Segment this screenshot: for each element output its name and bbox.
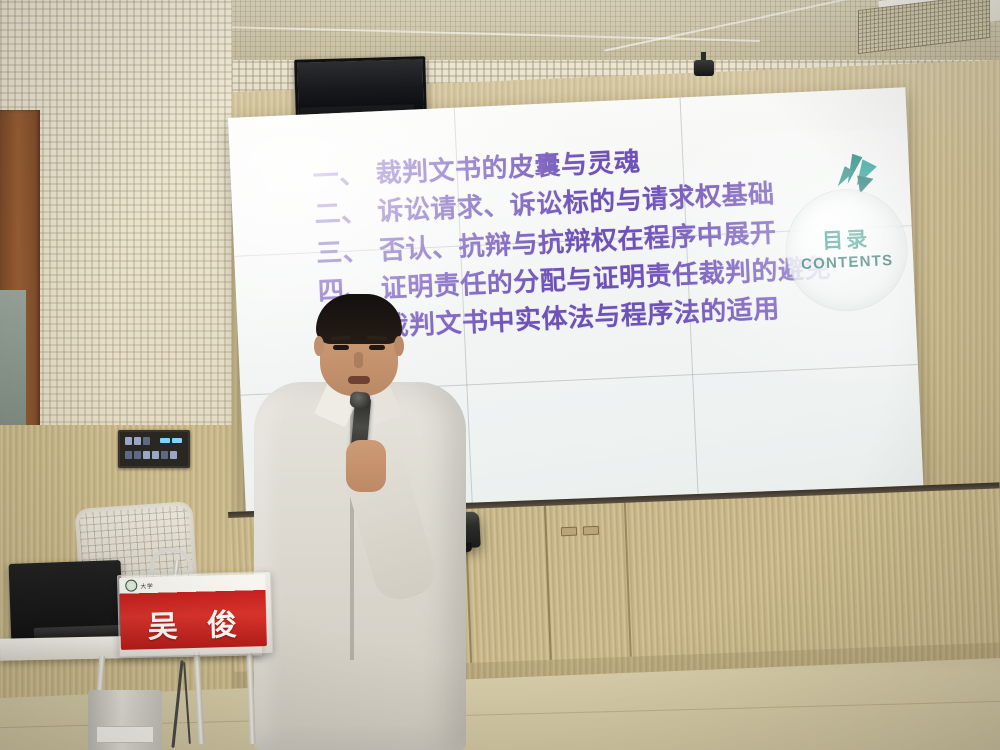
slide-line-number: 一、 [312, 160, 366, 192]
status-led [172, 438, 182, 443]
contents-label-cn: 目录 [822, 229, 871, 252]
university-logo: 大学 [125, 579, 153, 592]
equipment-label [96, 726, 154, 743]
nameplate-name-char: 吴 [147, 601, 180, 646]
control-button[interactable] [143, 437, 150, 445]
control-button[interactable] [134, 437, 141, 445]
speaker-eye [333, 345, 349, 350]
control-button[interactable] [161, 451, 168, 459]
slide-line-number: 三、 [316, 236, 370, 268]
speaker-hand [346, 440, 386, 492]
speaker-eye [369, 345, 385, 350]
cabinet-door-divider [544, 506, 552, 660]
control-button[interactable] [134, 451, 141, 459]
ceiling-camera [694, 60, 714, 76]
control-button[interactable] [143, 451, 150, 459]
status-led [160, 438, 170, 443]
speaker-ear [314, 336, 324, 356]
speaker-mouth [348, 376, 370, 384]
control-button[interactable] [170, 451, 177, 459]
cabinet-door-divider [624, 503, 632, 657]
nameplate-name-char: 俊 [206, 600, 239, 645]
microphone-head-icon [349, 391, 370, 409]
av-control-panel[interactable] [118, 430, 190, 468]
control-button[interactable] [125, 451, 132, 459]
control-button[interactable] [152, 451, 159, 459]
contents-label-en: CONTENTS [801, 251, 894, 272]
cabinet-handle[interactable] [583, 526, 599, 536]
speaker-nose [354, 352, 363, 368]
nameplate-name: 吴 俊 [120, 596, 267, 650]
lecture-room-photo: \u2009 一、裁判文书的皮囊与灵魂 二、诉讼请求、诉讼标的与请求权基础 三、… [0, 0, 1000, 750]
university-name: 大学 [140, 581, 153, 590]
speaker-hair [316, 294, 402, 344]
cabinet-handle[interactable] [561, 527, 577, 537]
speaker [246, 300, 476, 750]
university-seal-icon [125, 579, 137, 591]
slide-line-number: 二、 [314, 198, 368, 230]
control-button[interactable] [125, 437, 132, 445]
gooseneck-microphone [150, 548, 192, 574]
speaker-ear [394, 336, 404, 356]
slide-line-text: 裁判文书的皮囊与灵魂 [375, 147, 641, 189]
nameplate: 大学 吴 俊 [119, 574, 267, 650]
